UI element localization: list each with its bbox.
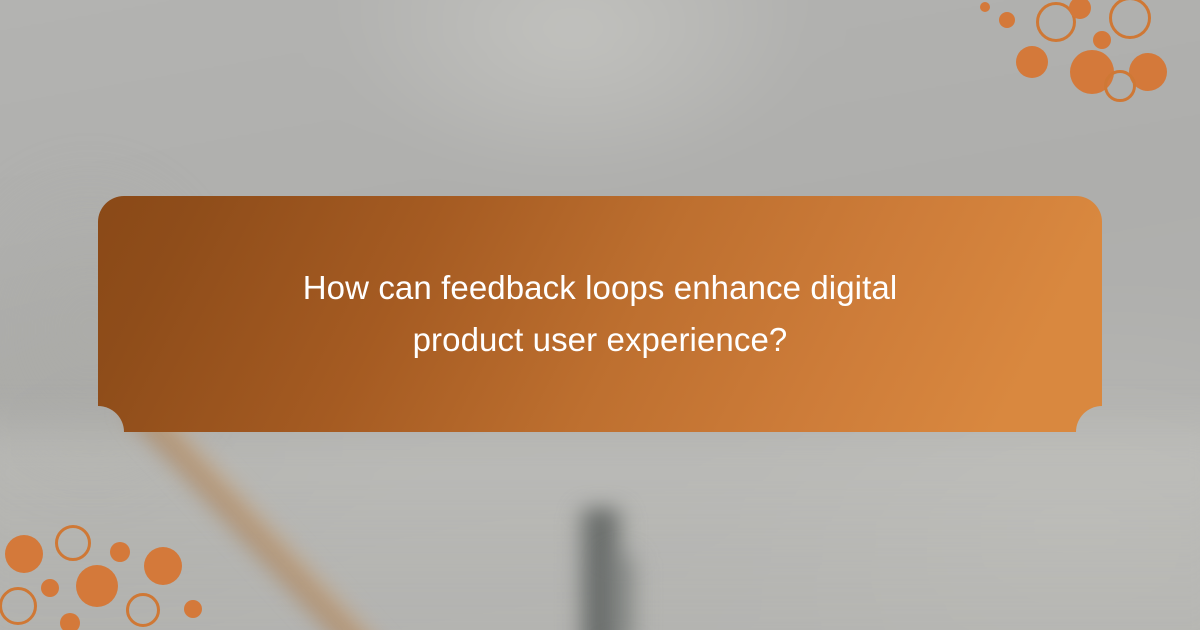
screenshot-canvas: How can feedback loops enhance digital p… — [0, 0, 1200, 630]
question-text: How can feedback loops enhance digital p… — [250, 262, 950, 366]
card-content: How can feedback loops enhance digital p… — [98, 196, 1102, 432]
background-cylinder-shadow — [604, 556, 638, 630]
question-card: How can feedback loops enhance digital p… — [98, 196, 1102, 432]
